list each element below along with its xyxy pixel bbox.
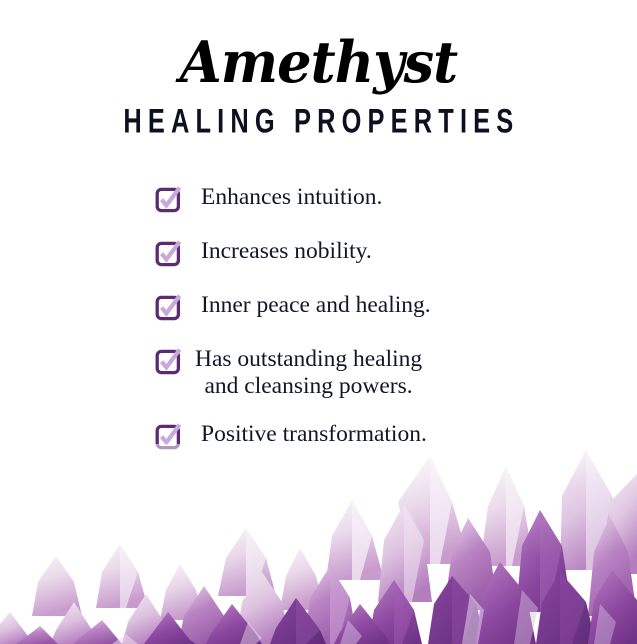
checked-checkbox-icon (155, 348, 181, 374)
checked-checkbox-icon (155, 240, 181, 266)
list-item-label: Enhances intuition. (201, 183, 382, 211)
healing-properties-list: Enhances intuition. Increases nobility. … (155, 183, 585, 449)
checked-checkbox-icon (155, 294, 181, 320)
amethyst-crystal-image (0, 444, 637, 644)
page-subtitle: HEALING PROPERTIES (57, 103, 579, 138)
header: Amethyst HEALING PROPERTIES (0, 34, 637, 136)
list-item: Increases nobility. (155, 237, 585, 266)
list-item: Enhances intuition. (155, 183, 585, 212)
list-item-label: Has outstanding healing and cleansing po… (195, 345, 422, 401)
list-item-label: Inner peace and healing. (201, 291, 431, 319)
page-title: Amethyst (16, 34, 621, 91)
list-item: Inner peace and healing. (155, 291, 585, 320)
amethyst-healing-properties-infographic: Amethyst HEALING PROPERTIES Enhances int… (0, 0, 637, 644)
list-item-label: Increases nobility. (201, 237, 372, 265)
checked-checkbox-icon (155, 186, 181, 212)
crystal-cluster-graphic (0, 444, 637, 644)
list-item: Has outstanding healing and cleansing po… (155, 345, 585, 401)
